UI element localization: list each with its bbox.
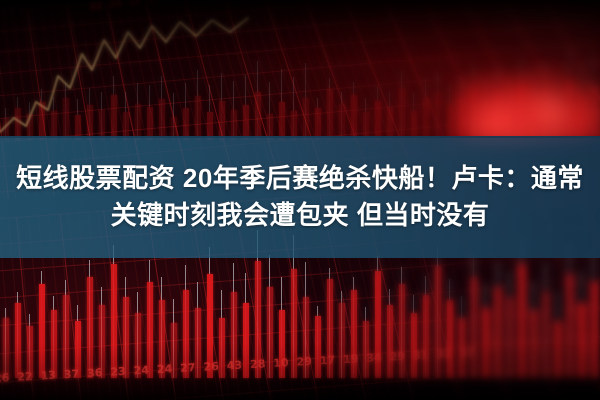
candle-body: [531, 310, 537, 378]
candle-body: [15, 303, 21, 378]
candlestick: [267, 99, 273, 140]
candlestick: [567, 269, 573, 378]
candle-body: [147, 107, 153, 140]
headline-line-1: 短线股票配资 20年季后赛绝杀快船！卢卡：通常: [16, 160, 584, 197]
candle-body: [315, 316, 321, 378]
candle-body: [111, 264, 117, 378]
candlestick: [63, 83, 69, 140]
candle-body: [339, 303, 345, 378]
candlestick: [195, 82, 201, 140]
candlestick: [51, 298, 57, 378]
candlestick: [99, 103, 105, 140]
candlestick: [63, 280, 69, 378]
candlestick: [471, 262, 477, 378]
candle-body: [135, 104, 141, 140]
axis-tick-label: 31: [413, 348, 429, 362]
candle-body: [111, 95, 117, 140]
candlestick: [459, 306, 465, 378]
candlestick: [3, 318, 9, 378]
news-thumbnail-image: 222628262821302726 262213373623242427264…: [0, 0, 600, 400]
candle-body: [591, 282, 597, 378]
candlestick: [435, 86, 441, 140]
candlestick: [375, 93, 381, 140]
candle-body: [351, 95, 357, 140]
candlestick: [243, 96, 249, 140]
axis-tick-label: 37: [459, 346, 475, 360]
axis-tick-label: 13: [40, 369, 56, 383]
axis-tick-label: 24: [157, 362, 173, 376]
candlestick: [87, 101, 93, 140]
candle-body: [219, 101, 225, 140]
candle-body: [543, 292, 549, 378]
candle-body: [195, 96, 201, 140]
axis-tick-label: 34: [366, 351, 382, 365]
axis-tick-label: 22: [89, 1, 103, 12]
candlestick: [111, 254, 117, 378]
candle-body: [567, 274, 573, 378]
axis-tick-label: 43: [226, 359, 242, 373]
candlestick: [399, 74, 405, 140]
axis-tick-label: 26: [109, 0, 123, 10]
candle-body: [387, 107, 393, 140]
candlestick: [39, 275, 45, 378]
candlestick: [327, 76, 333, 140]
candle-body: [63, 98, 69, 140]
candlestick: [591, 75, 597, 140]
candlestick: [519, 254, 525, 378]
candlestick: [15, 105, 21, 140]
candlestick: [591, 271, 597, 378]
candlestick: [483, 307, 489, 378]
candle-body: [339, 104, 345, 140]
candlestick: [531, 297, 537, 378]
candle-body: [471, 277, 477, 378]
axis-tick-label: 22: [17, 370, 33, 384]
candle-body: [243, 105, 249, 140]
candlestick: [447, 96, 453, 140]
candle-body: [63, 295, 69, 378]
axis-tick-label: 10: [273, 356, 289, 370]
candle-body: [255, 92, 261, 140]
headline-overlay-band: 短线股票配资 20年季后赛绝杀快船！卢卡：通常 关键时刻我会遭包夹 但当时没有: [0, 136, 600, 258]
candle-body: [39, 102, 45, 140]
candle-body: [435, 266, 441, 378]
candle-body: [327, 89, 333, 140]
candlestick: [387, 294, 393, 378]
candle-body: [579, 303, 585, 378]
candle-body: [555, 321, 561, 378]
candlestick: [543, 276, 549, 378]
axis-tick-label: 36: [87, 366, 103, 380]
candle-body: [279, 102, 285, 140]
candlestick: [411, 313, 417, 378]
candlestick: [15, 300, 21, 378]
candlestick: [123, 99, 129, 140]
candle-body: [399, 284, 405, 378]
candlestick: [219, 98, 225, 140]
candlestick: [135, 88, 141, 140]
axis-tick-label: 32: [436, 347, 452, 361]
candlestick: [51, 99, 57, 140]
candle-body: [435, 92, 441, 140]
candlestick: [423, 292, 429, 378]
candle-body: [507, 297, 513, 378]
candle-body: [375, 101, 381, 140]
candle-body: [363, 321, 369, 378]
axis-tick-label: 28: [250, 357, 266, 371]
candlestick: [459, 87, 465, 140]
candle-body: [483, 308, 489, 378]
axis-tick-label: 29: [296, 355, 312, 369]
candlestick: [315, 98, 321, 140]
candlestick: [495, 283, 501, 378]
candle-body: [447, 300, 453, 378]
candlestick: [579, 295, 585, 378]
axis-tick-label: 27: [180, 361, 196, 375]
candle-body: [591, 86, 597, 140]
candlestick: [303, 91, 309, 140]
candle-body: [387, 305, 393, 378]
axis-tick-label: 26: [203, 360, 219, 374]
candlestick: [183, 97, 189, 140]
candlestick: [387, 96, 393, 140]
candlestick: [423, 95, 429, 140]
candlestick: [231, 104, 237, 140]
candlestick: [279, 101, 285, 140]
headline-line-2: 关键时刻我会遭包夹 但当时没有: [111, 197, 490, 234]
axis-tick-label: 19: [343, 352, 359, 366]
candle-body: [399, 88, 405, 140]
candlestick: [555, 319, 561, 378]
candlestick: [447, 291, 453, 378]
axis-tick-label: 23: [110, 365, 126, 379]
axis-tick-label: 26: [0, 371, 10, 385]
candlestick: [351, 93, 357, 140]
axis-tick-label: 29: [389, 350, 405, 364]
candle-body: [303, 98, 309, 140]
candlestick: [363, 316, 369, 378]
candle-body: [411, 313, 417, 378]
candlestick: [507, 290, 513, 378]
axis-tick-label: 17: [320, 354, 336, 368]
candlestick: [39, 93, 45, 140]
candlestick: [255, 80, 261, 140]
candle-body: [519, 264, 525, 378]
candlestick: [147, 105, 153, 140]
candlestick: [87, 273, 93, 378]
axis-tick-label: 24: [133, 364, 149, 378]
candle-body: [495, 287, 501, 378]
candle-body: [3, 318, 9, 378]
candle-body: [423, 295, 429, 378]
candle-body: [423, 98, 429, 140]
candle-body: [87, 105, 93, 140]
candlestick: [111, 85, 117, 140]
candle-body: [159, 99, 165, 140]
candlestick: [159, 94, 165, 140]
candle-body: [447, 105, 453, 140]
candle-body: [459, 99, 465, 140]
axis-tick-label: 37: [63, 367, 79, 381]
candle-body: [87, 277, 93, 378]
candlestick: [339, 88, 345, 140]
candle-body: [39, 284, 45, 378]
